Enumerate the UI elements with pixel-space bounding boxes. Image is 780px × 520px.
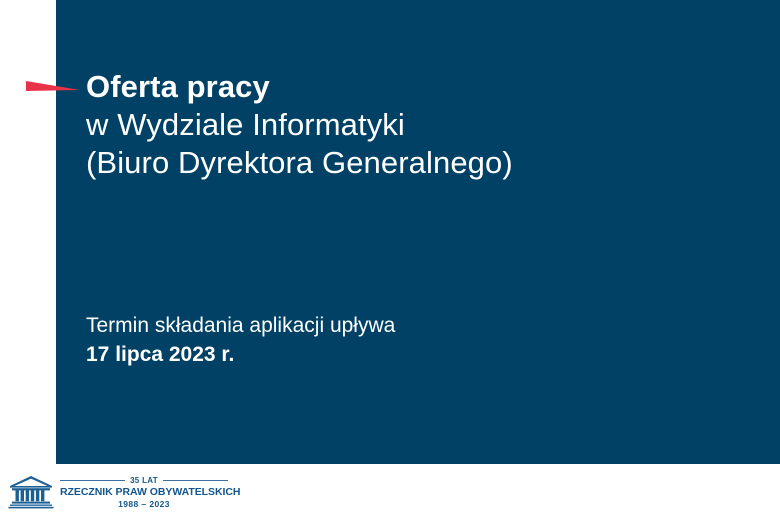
slide-canvas: Oferta pracy w Wydziale Informatyki (Biu… [0,0,780,520]
deadline-date: 17 lipca 2023 r. [86,340,706,369]
logo-anniversary-label: 35 LAT [125,476,163,485]
logo-anniversary-row: 35 LAT [60,475,228,486]
logo-organisation-name: RZECZNIK PRAW OBYWATELSKICH [60,486,228,499]
headline-line-3: (Biuro Dyrektora Generalnego) [86,144,746,182]
deadline-label: Termin składania aplikacji upływa [86,311,706,340]
headline-block: Oferta pracy w Wydziale Informatyki (Biu… [86,68,746,182]
logo-rule-left [60,480,125,481]
deadline-block: Termin składania aplikacji upływa 17 lip… [86,311,706,369]
logo-rule-right [163,480,228,481]
logo-text-block: 35 LAT RZECZNIK PRAW OBYWATELSKICH 1988 … [60,475,228,510]
red-arrow-accent-icon [26,79,80,93]
logo-years-label: 1988 – 2023 [60,499,228,510]
footer-logo: 35 LAT RZECZNIK PRAW OBYWATELSKICH 1988 … [8,472,238,512]
headline-line-1: Oferta pracy [86,68,746,106]
ombudsman-building-icon [8,475,54,509]
headline-line-2: w Wydziale Informatyki [86,106,746,144]
